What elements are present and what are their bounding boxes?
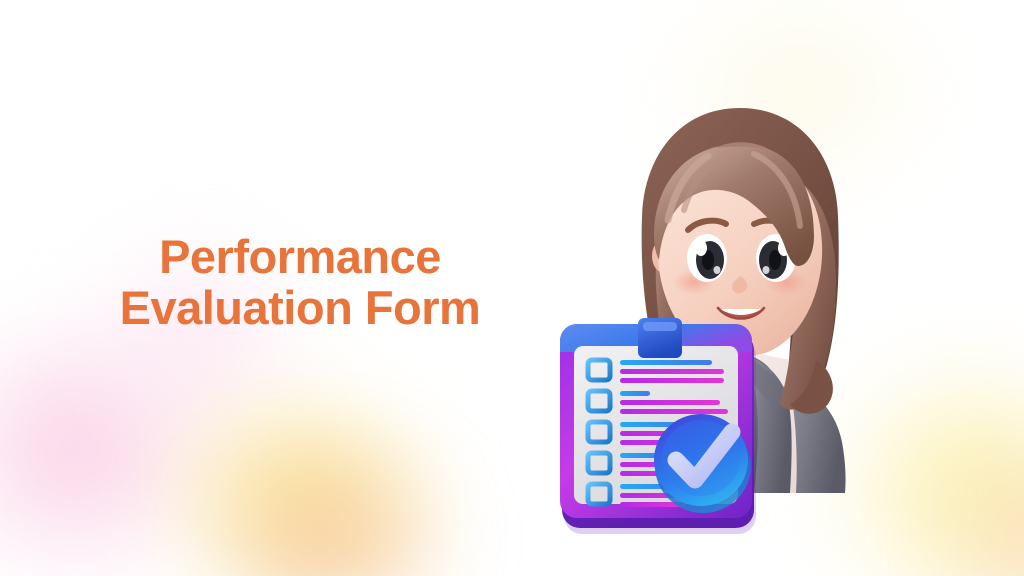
approved-check-badge	[654, 414, 751, 513]
clipboard-clip-highlight	[643, 322, 677, 331]
row-line-magenta	[620, 369, 724, 374]
eye-left	[687, 234, 727, 282]
row-line-blue	[620, 360, 712, 365]
row-line-magenta	[620, 378, 724, 383]
row-line-blue	[620, 391, 650, 396]
page-title: Performance Evaluation Form	[0, 232, 600, 334]
row-line-magenta	[620, 400, 720, 405]
businesswoman-with-clipboard-illustration	[540, 60, 960, 560]
page-title-line-1: Performance	[0, 232, 600, 283]
page-title-line-2: Evaluation Form	[0, 283, 600, 334]
row-line-magenta	[620, 409, 728, 414]
checklist-row	[588, 360, 724, 383]
